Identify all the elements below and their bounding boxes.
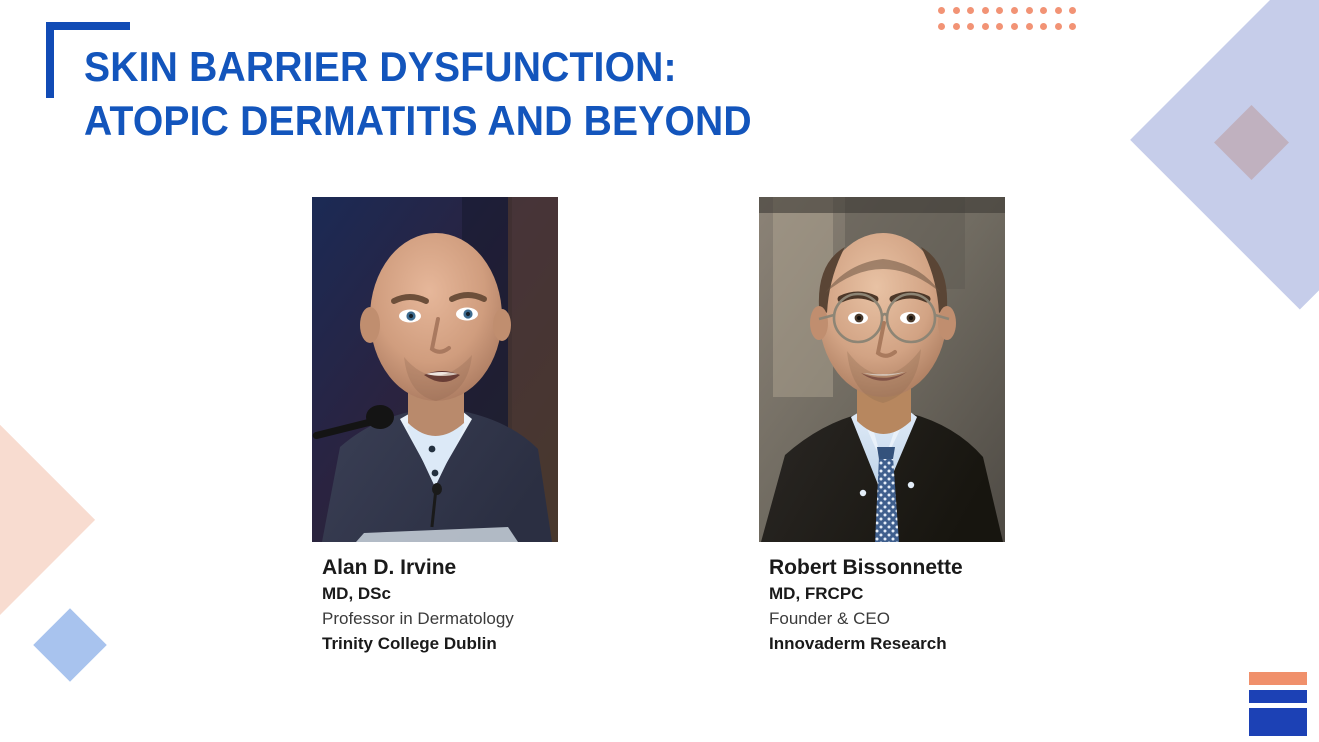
presentation-slide: SKIN BARRIER DYSFUNCTION: ATOPIC DERMATI… (0, 0, 1319, 742)
speaker-organization: Innovaderm Research (769, 631, 1005, 656)
speaker-credentials: MD, FRCPC (769, 581, 1005, 606)
logo-bar-blue-thick (1249, 708, 1307, 736)
logo-bar-salmon (1249, 672, 1307, 685)
logo-bar-blue-thin (1249, 690, 1307, 703)
speaker-credentials: MD, DSc (322, 581, 558, 606)
speaker-name: Robert Bissonnette (769, 554, 1005, 581)
speaker-role: Professor in Dermatology (322, 606, 558, 631)
speaker-photo-robert-bissonnette (759, 197, 1005, 542)
speaker-photo-alan-irvine (312, 197, 558, 542)
speaker-name: Alan D. Irvine (322, 554, 558, 581)
brand-logo (1249, 672, 1307, 736)
speaker-info: Robert Bissonnette MD, FRCPC Founder & C… (769, 554, 1005, 656)
speaker-info: Alan D. Irvine MD, DSc Professor in Derm… (322, 554, 558, 656)
speaker-card: Alan D. Irvine MD, DSc Professor in Derm… (312, 197, 558, 656)
speakers-section: Alan D. Irvine MD, DSc Professor in Derm… (0, 0, 1319, 742)
portrait-illustration (312, 197, 558, 542)
speaker-card: Robert Bissonnette MD, FRCPC Founder & C… (759, 197, 1005, 656)
portrait-illustration (759, 197, 1005, 542)
speaker-role: Founder & CEO (769, 606, 1005, 631)
speaker-organization: Trinity College Dublin (322, 631, 558, 656)
